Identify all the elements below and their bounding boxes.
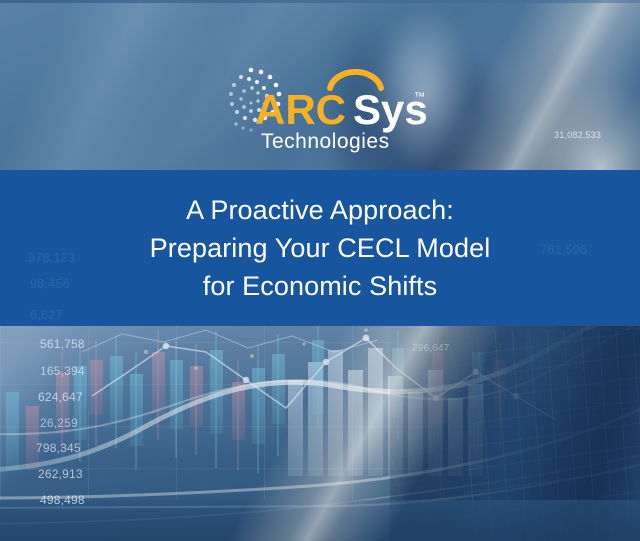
background-dot-matrix bbox=[520, 330, 640, 420]
floating-number: 26,259 bbox=[40, 416, 78, 430]
skyscraper-facade-overlay bbox=[390, 300, 640, 541]
page-title-line-3: for Economic Shifts bbox=[14, 267, 626, 305]
bottom-band-overlay bbox=[0, 500, 640, 541]
floating-number: 31,082,533 bbox=[554, 130, 601, 140]
skyscraper-facade-overlay-2 bbox=[458, 330, 640, 541]
logo-trademark-symbol: ™ bbox=[414, 91, 425, 103]
title-banner: 978,123 98,456 6,627 761,596 A Proactive… bbox=[0, 170, 640, 326]
floating-number: 498,498 bbox=[40, 493, 85, 507]
top-edge-strip bbox=[0, 0, 640, 3]
page-title: A Proactive Approach: Preparing Your CEC… bbox=[0, 191, 640, 305]
floating-number: 262,913 bbox=[38, 467, 83, 481]
banner-ghost-number: 6,627 bbox=[30, 307, 63, 322]
page-title-line-1: A Proactive Approach: bbox=[14, 191, 626, 229]
floating-number: 561,758 bbox=[40, 337, 85, 351]
floating-number: 624,647 bbox=[38, 390, 83, 404]
promotional-graphic-card: 31,082,533 561,758 165,394 624,647 26,25… bbox=[0, 0, 640, 541]
arcsys-technologies-logo: ARC Sys ™ Technologies bbox=[205, 62, 435, 158]
floating-number: 296,647 bbox=[412, 343, 450, 354]
page-title-line-2: Preparing Your CECL Model bbox=[14, 229, 626, 267]
floating-number: 798,345 bbox=[36, 441, 81, 455]
floating-number: 165,394 bbox=[40, 364, 85, 378]
lower-panel-overlay bbox=[0, 326, 640, 541]
logo-tagline: Technologies bbox=[261, 130, 390, 153]
background-data-grid bbox=[0, 300, 640, 501]
logo-word-arc: ARC bbox=[255, 86, 346, 133]
